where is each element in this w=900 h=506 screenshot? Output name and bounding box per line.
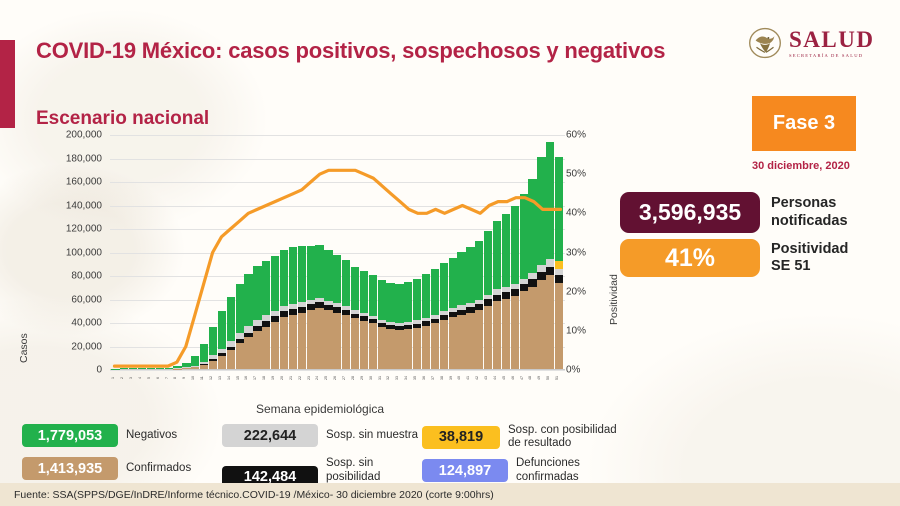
y2-axis-tick: 0% xyxy=(566,365,606,376)
chart-bar-segment xyxy=(244,337,252,369)
chart-bar xyxy=(520,135,528,369)
chart-bar-segment xyxy=(218,356,226,369)
chart-bar-segment xyxy=(546,267,554,275)
page-subtitle: Escenario nacional xyxy=(36,108,209,130)
legend-label-sosp-sin-posibilidad-line1: Sosp. sin posibilidad xyxy=(326,457,422,483)
y-axis-left: 020,00040,00060,00080,000100,000120,0001… xyxy=(32,135,102,370)
legend-label-confirmados-line1: Confirmados xyxy=(126,462,191,475)
chart-bar-segment xyxy=(511,296,519,369)
legend-chip-confirmados: 1,413,935 xyxy=(22,457,118,480)
salud-logo: SALUD SECRETARÍA DE SALUD xyxy=(748,26,874,60)
chart-bar xyxy=(289,135,297,369)
chart-bar-segment xyxy=(555,283,563,369)
x-axis-tick: 1 xyxy=(111,371,119,385)
dashboard-page: COVID-19 México: casos positivos, sospec… xyxy=(0,0,900,506)
salud-logo-text: SALUD SECRETARÍA DE SALUD xyxy=(789,28,874,59)
legend-item-defunciones: 124,897 Defunciones confirmadas xyxy=(422,457,637,483)
chart-bar-segment xyxy=(555,269,563,276)
stat-notificadas-label: Personas notificadas xyxy=(771,195,848,230)
chart-bar xyxy=(262,135,270,369)
y-axis-tick: 140,000 xyxy=(36,200,102,211)
chart-bar-segment xyxy=(147,368,155,369)
chart-bar-segment xyxy=(289,247,297,303)
chart-bar-segment xyxy=(236,343,244,369)
legend-row-top: 1,779,053 Negativos 222,644 Sosp. sin mu… xyxy=(22,424,642,450)
chart-bar-segment xyxy=(324,310,332,369)
chart-bar-segment xyxy=(298,246,306,301)
x-axis-tick: 41 xyxy=(466,371,474,385)
y-axis-tick: 20,000 xyxy=(36,341,102,352)
stat-notificadas-value: 3,596,935 xyxy=(620,192,760,233)
chart-bar-segment xyxy=(546,259,554,266)
chart-bar-segment xyxy=(280,317,288,369)
chart-bar xyxy=(120,135,128,369)
chart-bar-segment xyxy=(244,274,252,327)
x-axis-tick: 28 xyxy=(351,371,359,385)
legend-item-negativos: 1,779,053 Negativos xyxy=(22,424,222,447)
chart-bar xyxy=(129,135,137,369)
x-axis-tick: 4 xyxy=(138,371,146,385)
y2-axis-tick: 20% xyxy=(566,286,606,297)
chart-bar-segment xyxy=(475,310,483,369)
chart-bar-segment xyxy=(165,368,173,369)
chart-bar xyxy=(200,135,208,369)
y2-axis-tick: 50% xyxy=(566,169,606,180)
chart-bar xyxy=(324,135,332,369)
x-axis-tick: 27 xyxy=(342,371,350,385)
legend-label-defunciones: Defunciones confirmadas xyxy=(516,457,580,483)
chart-bar-segment xyxy=(342,260,350,306)
x-axis-tick: 34 xyxy=(404,371,412,385)
chart-bar xyxy=(333,135,341,369)
chart-bar-segment xyxy=(528,179,536,273)
x-axis-tick: 24 xyxy=(315,371,323,385)
y-axis-tick: 100,000 xyxy=(36,247,102,258)
y2-axis-tick: 60% xyxy=(566,130,606,141)
x-axis-tick: 44 xyxy=(493,371,501,385)
chart-bar-segment xyxy=(555,261,563,269)
legend-chip-sosp-con-posibilidad: 38,819 xyxy=(422,426,500,449)
chart-bar-segment xyxy=(537,265,545,272)
chart-bar xyxy=(378,135,386,369)
legend-label-confirmados: Confirmados xyxy=(126,462,191,475)
y-axis-tick: 80,000 xyxy=(36,271,102,282)
x-axis-tick: 26 xyxy=(333,371,341,385)
x-axis-tick: 45 xyxy=(502,371,510,385)
chart-bar-segment xyxy=(129,368,137,369)
legend-label-defunciones-line2: confirmadas xyxy=(516,471,580,484)
chart-bar xyxy=(555,135,563,369)
chart-bar xyxy=(386,135,394,369)
legend-item-sosp-sin-muestra: 222,644 Sosp. sin muestra xyxy=(222,424,422,447)
legend-chip-negativos: 1,779,053 xyxy=(22,424,118,447)
chart-bar-segment xyxy=(262,261,270,315)
chart-bar xyxy=(253,135,261,369)
chart-bar-segment xyxy=(440,320,448,369)
salud-tagline: SECRETARÍA DE SALUD xyxy=(789,54,874,59)
chart-bar-segment xyxy=(546,142,554,260)
chart-bar xyxy=(475,135,483,369)
x-axis-tick: 33 xyxy=(395,371,403,385)
chart-bar-segment xyxy=(369,323,377,369)
chart-bar-segment xyxy=(280,250,288,306)
chart-bar xyxy=(351,135,359,369)
x-axis-tick: 19 xyxy=(271,371,279,385)
y-axis-tick: 180,000 xyxy=(36,153,102,164)
chart-bar-segment xyxy=(431,269,439,315)
chart-bar xyxy=(138,135,146,369)
chart-bar-segment xyxy=(386,283,394,322)
x-axis-tick: 47 xyxy=(520,371,528,385)
legend-label-sosp-con-posibilidad: Sosp. con posibilidad de resultado xyxy=(508,424,617,450)
chart-bar-segment xyxy=(520,284,528,291)
chart-bar-segment xyxy=(253,266,261,320)
chart-bar xyxy=(449,135,457,369)
chart-bar-segment xyxy=(227,350,235,369)
chart-bar xyxy=(271,135,279,369)
chart-bar xyxy=(422,135,430,369)
chart-bar-segment xyxy=(182,368,190,369)
legend-label-sosp-con-posibilidad-line1: Sosp. con posibilidad xyxy=(508,424,617,437)
chart-bar-segment xyxy=(298,313,306,369)
y2-axis-tick: 10% xyxy=(566,325,606,336)
x-axis-tick: 25 xyxy=(324,371,332,385)
chart-bar-segment xyxy=(449,258,457,309)
chart-bar-segment xyxy=(378,280,386,320)
y-axis-tick: 0 xyxy=(36,365,102,376)
covid-stacked-bar-chart: Casos Positividad 020,00040,00060,00080,… xyxy=(20,135,620,395)
x-axis-tick: 13 xyxy=(218,371,226,385)
x-axis-tick: 30 xyxy=(369,371,377,385)
x-axis-tick: 8 xyxy=(173,371,181,385)
page-title: COVID-19 México: casos positivos, sospec… xyxy=(36,38,665,64)
chart-plot-area xyxy=(110,135,565,370)
chart-bar-segment xyxy=(360,321,368,369)
chart-bar-segment xyxy=(271,256,279,311)
chart-bar-segment xyxy=(351,318,359,369)
chart-bar xyxy=(502,135,510,369)
x-axis-tick: 48 xyxy=(528,371,536,385)
chart-bar-segment xyxy=(555,275,563,283)
chart-bar-segment xyxy=(537,157,545,265)
x-axis-tick: 16 xyxy=(244,371,252,385)
chart-bar-segment xyxy=(191,356,199,365)
chart-bar xyxy=(466,135,474,369)
chart-bar xyxy=(440,135,448,369)
chart-bar-segment xyxy=(520,194,528,279)
chart-bar-segment xyxy=(271,322,279,369)
chart-bar-segment xyxy=(502,299,510,370)
chart-bar-segment xyxy=(333,255,341,303)
chart-bar xyxy=(511,135,519,369)
y-axis-title: Casos xyxy=(18,333,30,363)
chart-bar xyxy=(493,135,501,369)
phase-badge: Fase 3 xyxy=(752,96,856,151)
title-accent-bar xyxy=(0,40,15,128)
x-axis-tick: 2 xyxy=(120,371,128,385)
x-axis-tick: 39 xyxy=(449,371,457,385)
x-axis-tick: 46 xyxy=(511,371,519,385)
x-axis-tick: 23 xyxy=(307,371,315,385)
legend-label-sosp-con-posibilidad-line2: de resultado xyxy=(508,437,617,450)
x-axis-tick: 31 xyxy=(378,371,386,385)
chart-bar-segment xyxy=(422,274,430,317)
stat-notificadas: 3,596,935 Personas notificadas xyxy=(620,192,848,233)
chart-bar-segment xyxy=(324,250,332,301)
chart-bar-segment xyxy=(528,287,536,369)
x-axis-tick: 18 xyxy=(262,371,270,385)
legend-label-sosp-sin-muestra-line1: Sosp. sin muestra xyxy=(326,429,418,442)
chart-bar xyxy=(173,135,181,369)
chart-bar xyxy=(528,135,536,369)
salud-wordmark: SALUD xyxy=(789,28,874,51)
chart-bar-segment xyxy=(262,327,270,369)
chart-bar-segment xyxy=(457,315,465,369)
x-axis-tick: 35 xyxy=(413,371,421,385)
chart-bar-segment xyxy=(333,313,341,369)
x-axis-tick: 11 xyxy=(200,371,208,385)
chart-bar xyxy=(280,135,288,369)
chart-bar-segment xyxy=(386,329,394,369)
stat-positividad-label-line2: SE 51 xyxy=(771,258,848,275)
chart-bar-segment xyxy=(236,284,244,333)
chart-bar-segment xyxy=(156,368,164,369)
x-axis-tick: 15 xyxy=(236,371,244,385)
footer-bar: Fuente: SSA(SPPS/DGE/InDRE/Informe técni… xyxy=(0,483,900,506)
chart-bar-segment xyxy=(404,329,412,369)
chart-bar xyxy=(484,135,492,369)
x-axis-tick: 6 xyxy=(156,371,164,385)
x-axis-tick: 10 xyxy=(191,371,199,385)
legend-item-sosp-con-posibilidad: 38,819 Sosp. con posibilidad de resultad… xyxy=(422,424,637,450)
chart-bar-segment xyxy=(209,327,217,355)
chart-bar-segment xyxy=(218,311,226,349)
x-axis-tick: 7 xyxy=(165,371,173,385)
chart-bar xyxy=(413,135,421,369)
chart-bar-segment xyxy=(493,221,501,289)
chart-bar-segment xyxy=(378,327,386,369)
chart-bar-segment xyxy=(315,308,323,369)
chart-bar xyxy=(244,135,252,369)
chart-bar-segment xyxy=(537,272,545,280)
y-axis-right: 0%10%20%30%40%50%60% xyxy=(566,135,610,370)
x-axis-tick: 40 xyxy=(457,371,465,385)
chart-bar-segment xyxy=(520,291,528,369)
chart-bar-segment xyxy=(484,231,492,294)
x-axis-tick: 12 xyxy=(209,371,217,385)
x-axis-tick: 37 xyxy=(431,371,439,385)
chart-bar xyxy=(111,135,119,369)
stat-notificadas-label-line2: notificadas xyxy=(771,213,848,230)
chart-bar xyxy=(315,135,323,369)
x-axis-tick: 21 xyxy=(289,371,297,385)
chart-bar xyxy=(457,135,465,369)
chart-bar-segment xyxy=(449,317,457,369)
chart-bar-segment xyxy=(493,301,501,369)
x-axis-tick: 20 xyxy=(280,371,288,385)
chart-bar-segment xyxy=(191,367,199,369)
chart-bar xyxy=(156,135,164,369)
chart-bar-segment xyxy=(138,368,146,369)
legend-label-negativos: Negativos xyxy=(126,429,177,442)
stat-notificadas-label-line1: Personas xyxy=(771,195,848,212)
footer-source-text: Fuente: SSA(SPPS/DGE/InDRE/Informe técni… xyxy=(0,489,494,501)
y-axis-tick: 60,000 xyxy=(36,294,102,305)
y2-axis-tick: 30% xyxy=(566,247,606,258)
chart-bar xyxy=(227,135,235,369)
stat-positividad-label-line1: Positividad xyxy=(771,241,848,258)
chart-bar-segment xyxy=(227,297,235,342)
chart-bar xyxy=(147,135,155,369)
chart-bar xyxy=(431,135,439,369)
chart-bar xyxy=(165,135,173,369)
x-axis-tick: 14 xyxy=(227,371,235,385)
chart-bar-segment xyxy=(502,214,510,287)
x-axis-tick: 9 xyxy=(182,371,190,385)
chart-bar xyxy=(298,135,306,369)
chart-bar-segment xyxy=(200,365,208,369)
chart-bar-segment xyxy=(360,271,368,313)
chart-bar-segment xyxy=(342,315,350,369)
chart-bar xyxy=(342,135,350,369)
chart-bar-segment xyxy=(289,315,297,369)
x-axis-tick: 43 xyxy=(484,371,492,385)
x-axis-tick: 42 xyxy=(475,371,483,385)
y-axis-tick: 40,000 xyxy=(36,318,102,329)
chart-bar-segment xyxy=(502,292,510,299)
chart-bar-segment xyxy=(440,263,448,311)
chart-bar-segment xyxy=(422,326,430,369)
x-axis-labels: 1234567891011121314151617181920212223242… xyxy=(110,371,565,385)
chart-bar-segment xyxy=(511,289,519,296)
chart-bar-segment xyxy=(413,279,421,320)
chart-bar-segment xyxy=(466,247,474,302)
x-axis-tick: 49 xyxy=(537,371,545,385)
chart-bar-segment xyxy=(120,368,128,369)
chart-bar-segment xyxy=(404,282,412,322)
legend-label-negativos-line1: Negativos xyxy=(126,429,177,442)
legend-item-confirmados: 1,413,935 Confirmados xyxy=(22,457,222,480)
legend-chip-sosp-sin-muestra: 222,644 xyxy=(222,424,318,447)
chart-bar-segment xyxy=(431,323,439,369)
chart-bars xyxy=(110,135,565,369)
chart-bar-segment xyxy=(395,284,403,323)
chart-bar xyxy=(395,135,403,369)
chart-bar-segment xyxy=(484,306,492,369)
chart-bar-segment xyxy=(475,241,483,300)
chart-bar xyxy=(369,135,377,369)
chart-bar-segment xyxy=(315,245,323,298)
x-axis-tick: 17 xyxy=(253,371,261,385)
chart-bar-segment xyxy=(546,275,554,369)
chart-bar-segment xyxy=(351,267,359,310)
chart-bar-segment xyxy=(395,330,403,369)
chart-bar xyxy=(404,135,412,369)
chart-bar xyxy=(546,135,554,369)
chart-bar-segment xyxy=(413,328,421,369)
chart-bar xyxy=(236,135,244,369)
chart-bar xyxy=(218,135,226,369)
chart-bar-segment xyxy=(209,361,217,369)
stat-positividad: 41% Positividad SE 51 xyxy=(620,239,848,277)
chart-bar xyxy=(360,135,368,369)
x-axis-tick: 50 xyxy=(546,371,554,385)
y-axis-tick: 120,000 xyxy=(36,224,102,235)
x-axis-tick: 3 xyxy=(129,371,137,385)
legend-label-defunciones-line1: Defunciones xyxy=(516,457,580,470)
chart-bar-segment xyxy=(307,246,315,300)
x-axis-tick: 29 xyxy=(360,371,368,385)
stat-positividad-label: Positividad SE 51 xyxy=(771,241,848,276)
chart-bar xyxy=(182,135,190,369)
report-date: 30 diciembre, 2020 xyxy=(752,160,850,172)
x-axis-tick: 5 xyxy=(147,371,155,385)
chart-bar xyxy=(209,135,217,369)
chart-bar-segment xyxy=(369,275,377,316)
stat-positividad-value: 41% xyxy=(620,239,760,277)
chart-bar-segment xyxy=(200,344,208,362)
y2-axis-tick: 40% xyxy=(566,208,606,219)
chart-bar-segment xyxy=(511,206,519,284)
chart-bar-segment xyxy=(555,157,563,260)
chart-bar xyxy=(307,135,315,369)
chart-bar-segment xyxy=(466,313,474,369)
x-axis-tick: 38 xyxy=(440,371,448,385)
x-axis-title: Semana epidemiológica xyxy=(20,402,620,416)
x-axis-tick: 36 xyxy=(422,371,430,385)
y-axis-tick: 200,000 xyxy=(36,130,102,141)
x-axis-tick: 22 xyxy=(298,371,306,385)
chart-bar-segment xyxy=(528,279,536,287)
x-axis-tick: 32 xyxy=(386,371,394,385)
chart-bar-segment xyxy=(537,280,545,369)
mexico-eagle-emblem-icon xyxy=(748,26,782,60)
x-axis-tick: 51 xyxy=(555,371,563,385)
legend-label-sosp-sin-muestra: Sosp. sin muestra xyxy=(326,429,418,442)
chart-bar-segment xyxy=(253,331,261,369)
chart-bar-segment xyxy=(307,310,315,369)
chart-bar xyxy=(537,135,545,369)
chart-bar-segment xyxy=(457,252,465,305)
chart-bar xyxy=(191,135,199,369)
legend-chip-defunciones: 124,897 xyxy=(422,459,508,482)
y-axis-tick: 160,000 xyxy=(36,177,102,188)
